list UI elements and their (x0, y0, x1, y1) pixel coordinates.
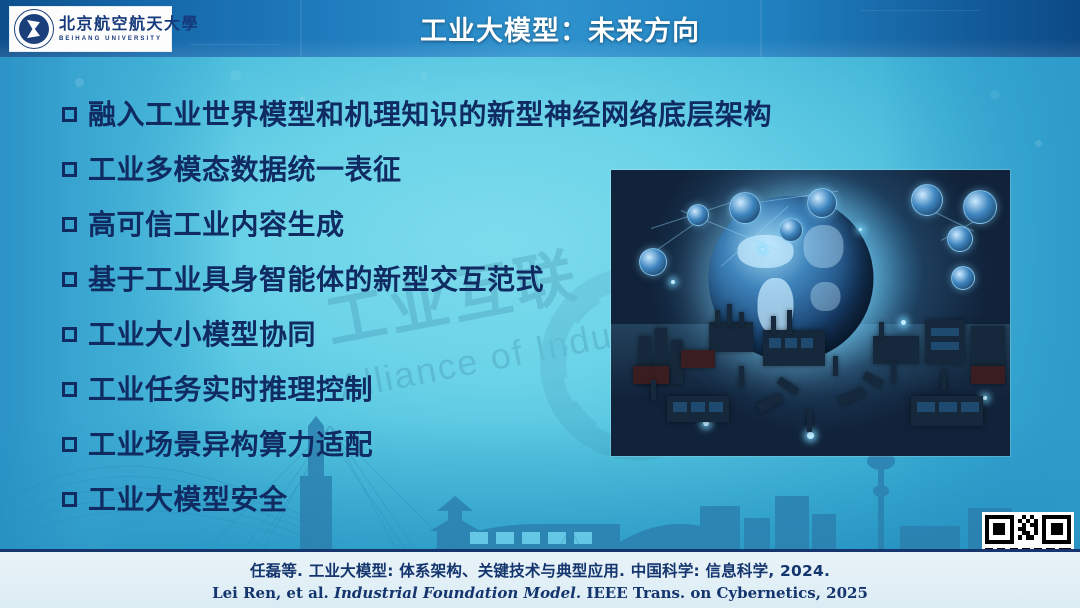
list-item-label: 工业场景异构算力适配 (88, 426, 373, 464)
list-item-label: 融入工业世界模型和机理知识的新型神经网络底层架构 (88, 96, 772, 134)
citation-english: Lei Ren, et al. Industrial Foundation Mo… (212, 584, 868, 602)
list-item: 工业多模态数据统一表征 (62, 151, 622, 191)
citation-en-title: Industrial Foundation Model. (334, 584, 581, 602)
illustration-image (611, 170, 1010, 456)
citation-en-venue: IEEE Trans. on Cybernetics, 2025 (581, 584, 868, 602)
list-item: 工业任务实时推理控制 (62, 371, 622, 411)
list-item-label: 工业大小模型协同 (88, 316, 316, 354)
bullet-square-icon (62, 492, 77, 507)
list-item-label: 基于工业具身智能体的新型交互范式 (88, 261, 544, 299)
university-logo: 北京航空航天大學 BEIHANG UNIVERSITY (9, 6, 172, 52)
bullet-square-icon (62, 327, 77, 342)
logo-en-name: BEIHANG UNIVERSITY (59, 36, 199, 42)
list-item: 高可信工业内容生成 (62, 206, 622, 246)
slide-header: 工业大模型：未来方向 北京航空航天大學 BEIHANG UNIVERSITY (0, 0, 1080, 57)
university-seal-icon (14, 9, 54, 49)
list-item: 工业大小模型协同 (62, 316, 622, 356)
list-item: 融入工业世界模型和机理知识的新型神经网络底层架构 (62, 96, 622, 136)
bullet-list: 融入工业世界模型和机理知识的新型神经网络底层架构 工业多模态数据统一表征 高可信… (62, 96, 622, 536)
list-item: 工业场景异构算力适配 (62, 426, 622, 466)
logo-cn-name: 北京航空航天大學 (59, 16, 199, 32)
list-item: 基于工业具身智能体的新型交互范式 (62, 261, 622, 301)
bullet-square-icon (62, 437, 77, 452)
citation-chinese: 任磊等. 工业大模型: 体系架构、关键技术与典型应用. 中国科学: 信息科学, … (250, 559, 830, 581)
list-item-label: 工业多模态数据统一表征 (88, 151, 402, 189)
list-item-label: 工业任务实时推理控制 (88, 371, 373, 409)
bullet-square-icon (62, 107, 77, 122)
bullet-square-icon (62, 272, 77, 287)
bullet-square-icon (62, 162, 77, 177)
list-item-label: 工业大模型安全 (88, 481, 288, 519)
citation-en-authors: Lei Ren, et al. (212, 584, 334, 602)
slide-footer: 任磊等. 工业大模型: 体系架构、关键技术与典型应用. 中国科学: 信息科学, … (0, 549, 1080, 608)
slide: 工业互联 Alliance of Industrial Int (0, 0, 1080, 608)
list-item: 工业大模型安全 (62, 481, 622, 521)
bullet-square-icon (62, 382, 77, 397)
list-item-label: 高可信工业内容生成 (88, 206, 345, 244)
bullet-square-icon (62, 217, 77, 232)
